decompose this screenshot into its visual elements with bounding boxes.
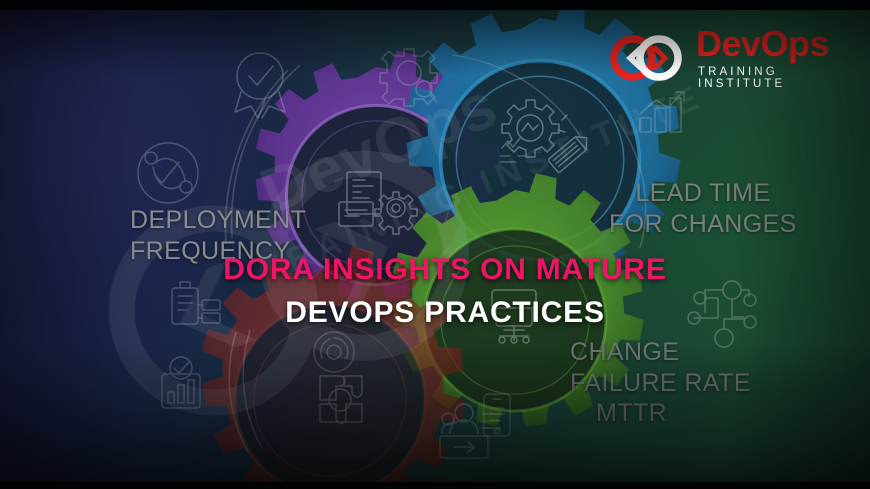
metric-line-2: FOR CHANGES [609,209,797,240]
metric-line-1: CHANGE [570,338,679,366]
brand-logo-text: DevOps TRAINING INSTITUTE [696,26,870,90]
devops-banner: DevOps TRAINING INSTITUTE [0,0,870,489]
metric-lead-time-for-changes: LEAD TIME FOR CHANGES [609,178,797,239]
brand-name: DevOps [696,26,870,62]
brand-tagline: TRAINING INSTITUTE [696,66,870,90]
metric-line-2: FREQUENCY [130,236,306,267]
top-letterbox-bar [0,0,870,10]
metric-line-3: MTTR [570,398,751,429]
brand-logo[interactable]: DevOps TRAINING INSTITUTE [608,26,870,90]
devops-infinity-loop-icon [608,31,684,85]
metric-deployment-frequency: DEPLOYMENT FREQUENCY [130,205,306,266]
metric-change-failure-rate: CHANGE FAILURE RATE MTTR [570,337,751,429]
metric-line-1: LEAD TIME [635,179,770,207]
metric-line-1: DEPLOYMENT [130,206,306,234]
metric-line-2: FAILURE RATE [570,368,751,399]
bottom-letterbox-bar [0,482,870,489]
